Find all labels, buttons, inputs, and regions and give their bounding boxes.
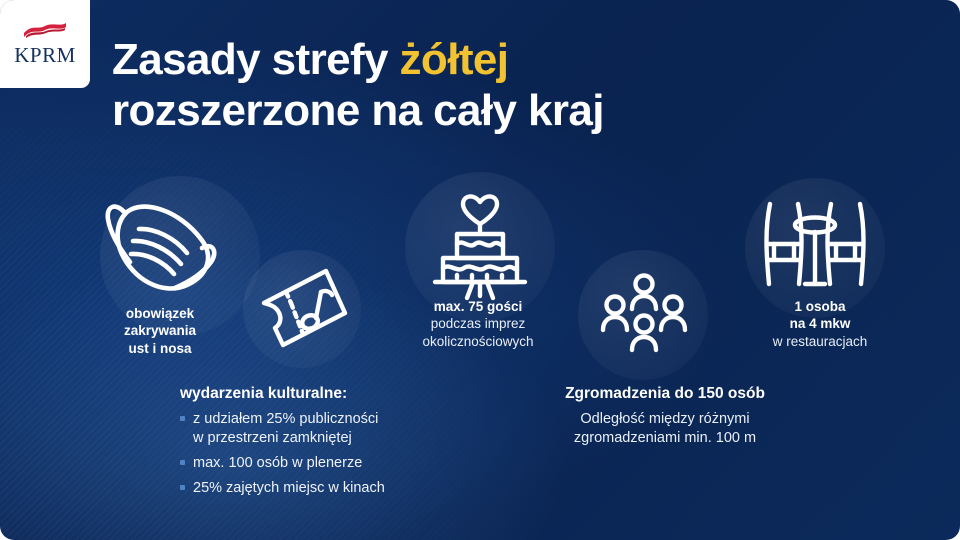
face-mask-icon xyxy=(103,196,221,298)
ticket-music-icon xyxy=(255,262,351,356)
culture-events-list: z udziałem 25% publiczności w przestrzen… xyxy=(180,410,480,497)
gatherings-sub-line-1: Odległość między różnymi xyxy=(500,410,830,429)
headline-highlight: żółtej xyxy=(400,35,509,84)
mask-caption-line-3: ust i nosa xyxy=(80,340,240,357)
culture-bullet-3-line-1: 25% zajętych miejsc w kinach xyxy=(193,480,385,496)
gatherings-block: Zgromadzenia do 150 osób Odległość międz… xyxy=(500,385,830,449)
infographic-poster: KPRM Zasady strefy żółtej rozszerzone na… xyxy=(0,0,960,540)
headline-line-1: Zasady strefy żółtej xyxy=(112,34,942,85)
mask-caption-line-2: zakrywania xyxy=(80,322,240,339)
mask-caption-line-1: obowiązek xyxy=(80,305,240,322)
culture-events-title: wydarzenia kulturalne: xyxy=(180,385,480,403)
gatherings-sub-line-2: zgromadzeniami min. 100 m xyxy=(500,429,830,448)
headline-line-2: rozszerzone na cały kraj xyxy=(112,85,942,136)
cake-caption-bold: max. 75 gości xyxy=(378,298,578,315)
culture-events-block: wydarzenia kulturalne: z udziałem 25% pu… xyxy=(180,385,480,503)
list-item: z udziałem 25% publiczności w przestrzen… xyxy=(180,410,480,448)
cake-caption: max. 75 gości podczas imprez okolicznośc… xyxy=(378,298,578,350)
page-title: Zasady strefy żółtej rozszerzone na cały… xyxy=(112,34,942,136)
polish-flag-wave-icon xyxy=(22,21,68,41)
list-item: max. 100 osób w plenerze xyxy=(180,454,480,473)
group-of-people-icon xyxy=(598,272,690,360)
kprm-logo: KPRM xyxy=(0,0,90,88)
mask-caption: obowiązek zakrywania ust i nosa xyxy=(80,305,240,357)
culture-bullet-1-line-1: z udziałem 25% publiczności xyxy=(193,411,378,427)
restaurant-caption-line-2: na 4 mkw xyxy=(720,315,920,332)
culture-bullet-2-line-1: max. 100 osób w plenerze xyxy=(193,455,362,471)
table-and-chairs-icon xyxy=(762,198,868,298)
list-item: 25% zajętych miejsc w kinach xyxy=(180,479,480,498)
cake-caption-line-2: podczas imprez xyxy=(378,315,578,332)
restaurant-caption: 1 osoba na 4 mkw w restauracjach xyxy=(720,298,920,350)
wedding-cake-icon xyxy=(423,190,537,302)
headline-line-1-text: Zasady strefy xyxy=(112,35,400,84)
cake-caption-line-3: okolicznościowych xyxy=(378,333,578,350)
logo-wordmark: KPRM xyxy=(14,43,76,68)
restaurant-caption-line-3: w restauracjach xyxy=(720,333,920,350)
gatherings-title: Zgromadzenia do 150 osób xyxy=(500,385,830,403)
restaurant-caption-line-1: 1 osoba xyxy=(720,298,920,315)
culture-bullet-1-line-2: w przestrzeni zamkniętej xyxy=(193,429,480,448)
